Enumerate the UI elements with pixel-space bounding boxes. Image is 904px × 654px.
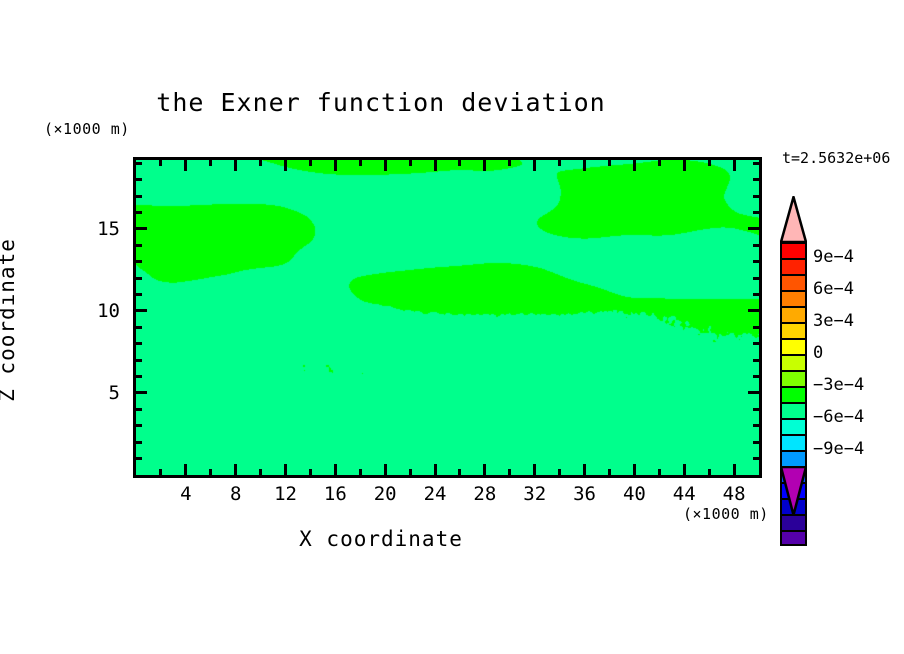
colorbar-tick-label: 6e−4 [813,279,854,299]
y-major-tick-right [748,227,759,230]
colorbar-band [780,242,807,258]
colorbar-band [780,338,807,354]
x-minor-tick-top [359,160,362,166]
x-major-tick-top [434,160,437,171]
x-major-tick-top [533,160,536,171]
x-minor-tick [508,469,511,475]
colorbar-band [780,354,807,370]
y-minor-tick-right [753,457,759,460]
x-tick-label: 48 [711,483,757,505]
x-minor-tick-top [508,160,511,166]
colorbar-under-arrow [780,466,807,516]
colorbar-tick-label: 9e−4 [813,247,854,267]
colorbar-band [780,258,807,274]
x-major-tick [533,464,536,475]
y-minor-tick [136,342,142,345]
colorbar-tick-label: −6e−4 [813,407,864,427]
y-minor-tick-right [753,424,759,427]
x-minor-tick [359,469,362,475]
x-tick-label: 16 [312,483,358,505]
x-major-tick [334,464,337,475]
colorbar-band [780,290,807,306]
y-minor-tick-right [753,211,759,214]
y-minor-tick [136,260,142,263]
y-major-tick-right [748,309,759,312]
y-minor-tick [136,326,142,329]
colorbar-band [780,450,807,466]
y-minor-tick-right [753,293,759,296]
x-major-tick [384,464,387,475]
x-tick-label: 40 [611,483,657,505]
colorbar-band [780,322,807,338]
y-minor-tick [136,359,142,362]
y-major-tick-right [748,391,759,394]
x-minor-tick-top [658,160,661,166]
x-minor-tick [259,469,262,475]
x-tick-label: 36 [562,483,608,505]
y-major-tick [136,309,147,312]
x-major-tick [284,464,287,475]
colorbar-band [780,530,807,546]
x-minor-tick-top [159,160,162,166]
y-minor-tick [136,244,142,247]
y-minor-tick-right [753,260,759,263]
x-minor-tick [409,469,412,475]
x-minor-tick [558,469,561,475]
y-minor-tick [136,408,142,411]
y-minor-tick-right [753,277,759,280]
x-major-tick-top [184,160,187,171]
y-tick-label: 5 [78,382,120,404]
contour-plot-area [133,157,762,478]
y-minor-tick-right [753,441,759,444]
y-minor-tick-right [753,162,759,165]
y-tick-label: 15 [78,218,120,240]
x-major-tick [733,464,736,475]
x-major-tick-top [334,160,337,171]
x-minor-tick [309,469,312,475]
x-minor-tick-top [409,160,412,166]
y-minor-tick [136,178,142,181]
x-major-tick-top [583,160,586,171]
colorbar-band [780,402,807,418]
x-major-tick-top [633,160,636,171]
x-minor-tick-top [209,160,212,166]
y-minor-tick [136,277,142,280]
x-minor-tick-top [558,160,561,166]
colorbar-band [780,274,807,290]
x-tick-label: 12 [263,483,309,505]
y-axis-unit-label: (×1000 m) [44,120,130,138]
colorbar-tick-label: 0 [813,343,823,363]
colorbar-band [780,514,807,530]
y-minor-tick-right [753,359,759,362]
y-minor-tick-right [753,375,759,378]
x-tick-label: 28 [462,483,508,505]
colorbar-band [780,386,807,402]
y-minor-tick-right [753,195,759,198]
x-minor-tick [458,469,461,475]
colorbar-band [780,306,807,322]
x-minor-tick-top [458,160,461,166]
x-minor-tick-top [608,160,611,166]
y-minor-tick-right [753,178,759,181]
y-minor-tick-right [753,408,759,411]
time-annotation: t=2.5632e+06 [782,149,890,167]
x-tick-label: 44 [661,483,707,505]
x-axis-title: X coordinate [0,527,762,551]
y-axis-title: Z coordinate [0,200,19,440]
x-minor-tick-top [259,160,262,166]
x-major-tick [683,464,686,475]
x-minor-tick-top [708,160,711,166]
y-minor-tick-right [753,244,759,247]
contour-field [136,160,759,475]
x-minor-tick-top [309,160,312,166]
colorbar-tick-label: −3e−4 [813,375,864,395]
colorbar-tick-label: 3e−4 [813,311,854,331]
x-minor-tick [708,469,711,475]
colorbar-band [780,370,807,386]
y-minor-tick [136,195,142,198]
x-minor-tick [658,469,661,475]
x-tick-label: 24 [412,483,458,505]
page-title: the Exner function deviation [0,88,762,117]
x-tick-label: 8 [213,483,259,505]
x-major-tick-top [234,160,237,171]
y-major-tick [136,391,147,394]
x-minor-tick [608,469,611,475]
y-major-tick [136,227,147,230]
x-major-tick [483,464,486,475]
y-minor-tick [136,162,142,165]
colorbar-over-arrow [780,196,807,243]
x-tick-label: 4 [163,483,209,505]
colorbar-band [780,434,807,450]
colorbar-band [780,418,807,434]
y-minor-tick [136,441,142,444]
y-tick-label: 10 [78,300,120,322]
x-major-tick-top [733,160,736,171]
y-minor-tick-right [753,326,759,329]
x-minor-tick [159,469,162,475]
x-major-tick-top [683,160,686,171]
y-minor-tick [136,293,142,296]
y-minor-tick [136,457,142,460]
x-tick-label: 20 [362,483,408,505]
y-minor-tick-right [753,342,759,345]
x-major-tick [434,464,437,475]
x-major-tick [234,464,237,475]
y-minor-tick [136,424,142,427]
x-major-tick [184,464,187,475]
x-tick-label: 32 [512,483,558,505]
x-minor-tick [209,469,212,475]
colorbar-tick-label: −9e−4 [813,439,864,459]
x-major-tick [633,464,636,475]
x-major-tick-top [284,160,287,171]
y-minor-tick [136,375,142,378]
y-minor-tick [136,211,142,214]
x-major-tick [583,464,586,475]
x-major-tick-top [384,160,387,171]
x-axis-unit-label: (×1000 m) [683,505,769,523]
x-major-tick-top [483,160,486,171]
